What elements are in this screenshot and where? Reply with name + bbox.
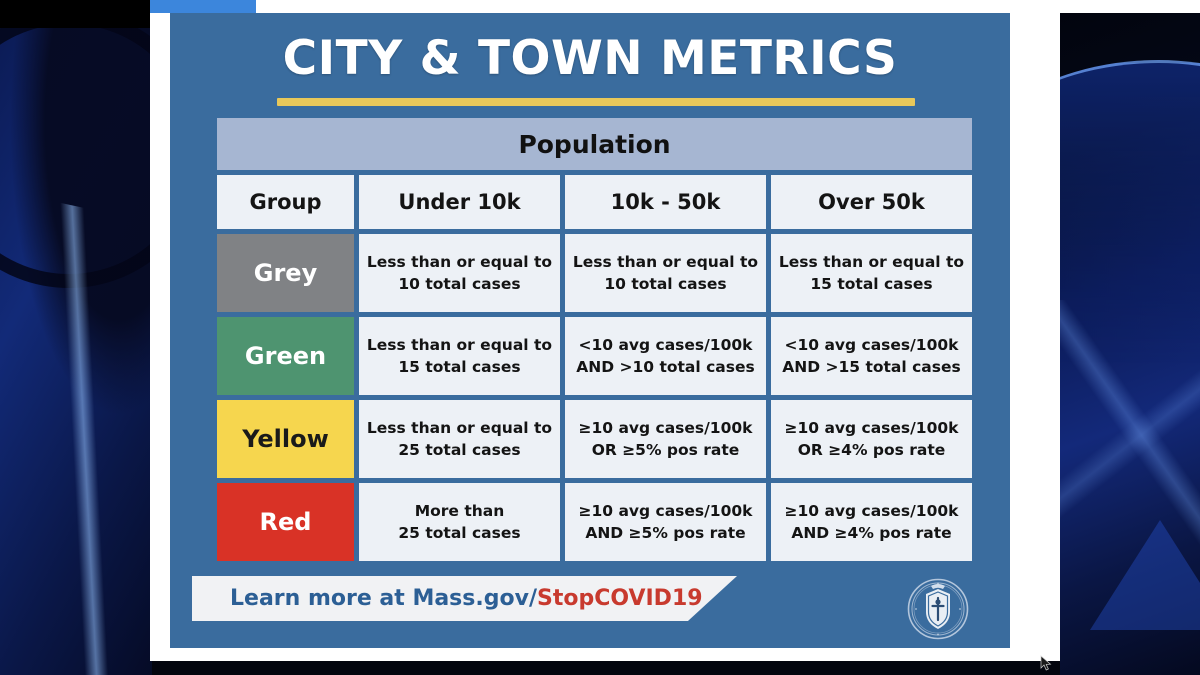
footer-learn-more-text: Learn more at Mass.gov/StopCOVID19 bbox=[230, 586, 703, 611]
cell-line: OR ≥4% pos rate bbox=[798, 439, 946, 461]
metrics-table: Population Group Under 10k 10k - 50k Ove… bbox=[217, 118, 972, 561]
footer-banner: Learn more at Mass.gov/StopCOVID19 bbox=[192, 576, 737, 621]
group-swatch-yellow: Yellow bbox=[217, 400, 354, 478]
column-header-row: Group Under 10k 10k - 50k Over 50k bbox=[217, 175, 972, 229]
population-header-row: Population bbox=[217, 118, 972, 170]
cell-line: Less than or equal to bbox=[779, 251, 964, 273]
group-swatch-grey: Grey bbox=[217, 234, 354, 312]
footer-campaign-label: StopCOVID19 bbox=[537, 586, 703, 611]
cell-line: Less than or equal to bbox=[573, 251, 758, 273]
top-white-bar bbox=[256, 0, 1200, 13]
group-swatch-green: Green bbox=[217, 317, 354, 395]
cell-green-10k50k: <10 avg cases/100k AND >10 total cases bbox=[565, 317, 766, 395]
cell-line: 25 total cases bbox=[398, 439, 520, 461]
screenshot-stage: CITY & TOWN METRICS Population Group Und… bbox=[0, 0, 1200, 675]
cell-red-over50k: ≥10 avg cases/100k AND ≥4% pos rate bbox=[771, 483, 972, 561]
page-title: CITY & TOWN METRICS bbox=[170, 31, 1010, 86]
cell-line: <10 avg cases/100k bbox=[579, 334, 753, 356]
cell-green-under10k: Less than or equal to 15 total cases bbox=[359, 317, 560, 395]
mouse-pointer-icon bbox=[1040, 655, 1052, 670]
table-row: Yellow Less than or equal to 25 total ca… bbox=[217, 400, 972, 478]
cell-line: <10 avg cases/100k bbox=[785, 334, 959, 356]
cell-line: OR ≥5% pos rate bbox=[592, 439, 740, 461]
cell-green-over50k: <10 avg cases/100k AND >15 total cases bbox=[771, 317, 972, 395]
cell-yellow-under10k: Less than or equal to 25 total cases bbox=[359, 400, 560, 478]
cell-line: ≥10 avg cases/100k bbox=[579, 500, 753, 522]
cell-line: Less than or equal to bbox=[367, 251, 552, 273]
backdrop-top-black-strip bbox=[0, 0, 150, 28]
column-header-group: Group bbox=[217, 175, 354, 229]
cell-line: AND ≥5% pos rate bbox=[585, 522, 745, 544]
title-underline bbox=[277, 98, 915, 106]
cell-yellow-over50k: ≥10 avg cases/100k OR ≥4% pos rate bbox=[771, 400, 972, 478]
massachusetts-state-seal-icon bbox=[907, 578, 969, 640]
cell-grey-under10k: Less than or equal to 10 total cases bbox=[359, 234, 560, 312]
cell-line: ≥10 avg cases/100k bbox=[785, 417, 959, 439]
cell-grey-10k50k: Less than or equal to 10 total cases bbox=[565, 234, 766, 312]
cell-line: AND >15 total cases bbox=[782, 356, 960, 378]
cell-line: 25 total cases bbox=[398, 522, 520, 544]
cell-line: AND >10 total cases bbox=[576, 356, 754, 378]
top-accent-bar bbox=[150, 0, 256, 13]
column-header-under-10k: Under 10k bbox=[359, 175, 560, 229]
cell-grey-over50k: Less than or equal to 15 total cases bbox=[771, 234, 972, 312]
footer-slash: / bbox=[529, 586, 537, 611]
group-swatch-red: Red bbox=[217, 483, 354, 561]
cell-yellow-10k50k: ≥10 avg cases/100k OR ≥5% pos rate bbox=[565, 400, 766, 478]
table-row: Grey Less than or equal to 10 total case… bbox=[217, 234, 972, 312]
cell-line: 15 total cases bbox=[810, 273, 932, 295]
footer-learn-more-label: Learn more at Mass.gov bbox=[230, 586, 529, 611]
cell-line: More than bbox=[415, 500, 505, 522]
metrics-slide: CITY & TOWN METRICS Population Group Und… bbox=[170, 13, 1010, 648]
column-header-over-50k: Over 50k bbox=[771, 175, 972, 229]
backdrop-right-panel bbox=[1060, 0, 1200, 675]
backdrop-triangle-shape bbox=[1090, 520, 1200, 630]
table-row: Green Less than or equal to 15 total cas… bbox=[217, 317, 972, 395]
table-row: Red More than 25 total cases ≥10 avg cas… bbox=[217, 483, 972, 561]
backdrop-left-panel bbox=[0, 0, 152, 675]
cell-line: Less than or equal to bbox=[367, 417, 552, 439]
population-header-label: Population bbox=[217, 118, 972, 170]
cell-line: Less than or equal to bbox=[367, 334, 552, 356]
backdrop-arc-shape bbox=[0, 10, 152, 288]
cell-red-10k50k: ≥10 avg cases/100k AND ≥5% pos rate bbox=[565, 483, 766, 561]
cell-line: 10 total cases bbox=[398, 273, 520, 295]
cell-line: 10 total cases bbox=[604, 273, 726, 295]
cell-line: ≥10 avg cases/100k bbox=[579, 417, 753, 439]
cell-line: 15 total cases bbox=[398, 356, 520, 378]
column-header-10k-50k: 10k - 50k bbox=[565, 175, 766, 229]
cell-line: ≥10 avg cases/100k bbox=[785, 500, 959, 522]
cell-red-under10k: More than 25 total cases bbox=[359, 483, 560, 561]
cell-line: AND ≥4% pos rate bbox=[791, 522, 951, 544]
